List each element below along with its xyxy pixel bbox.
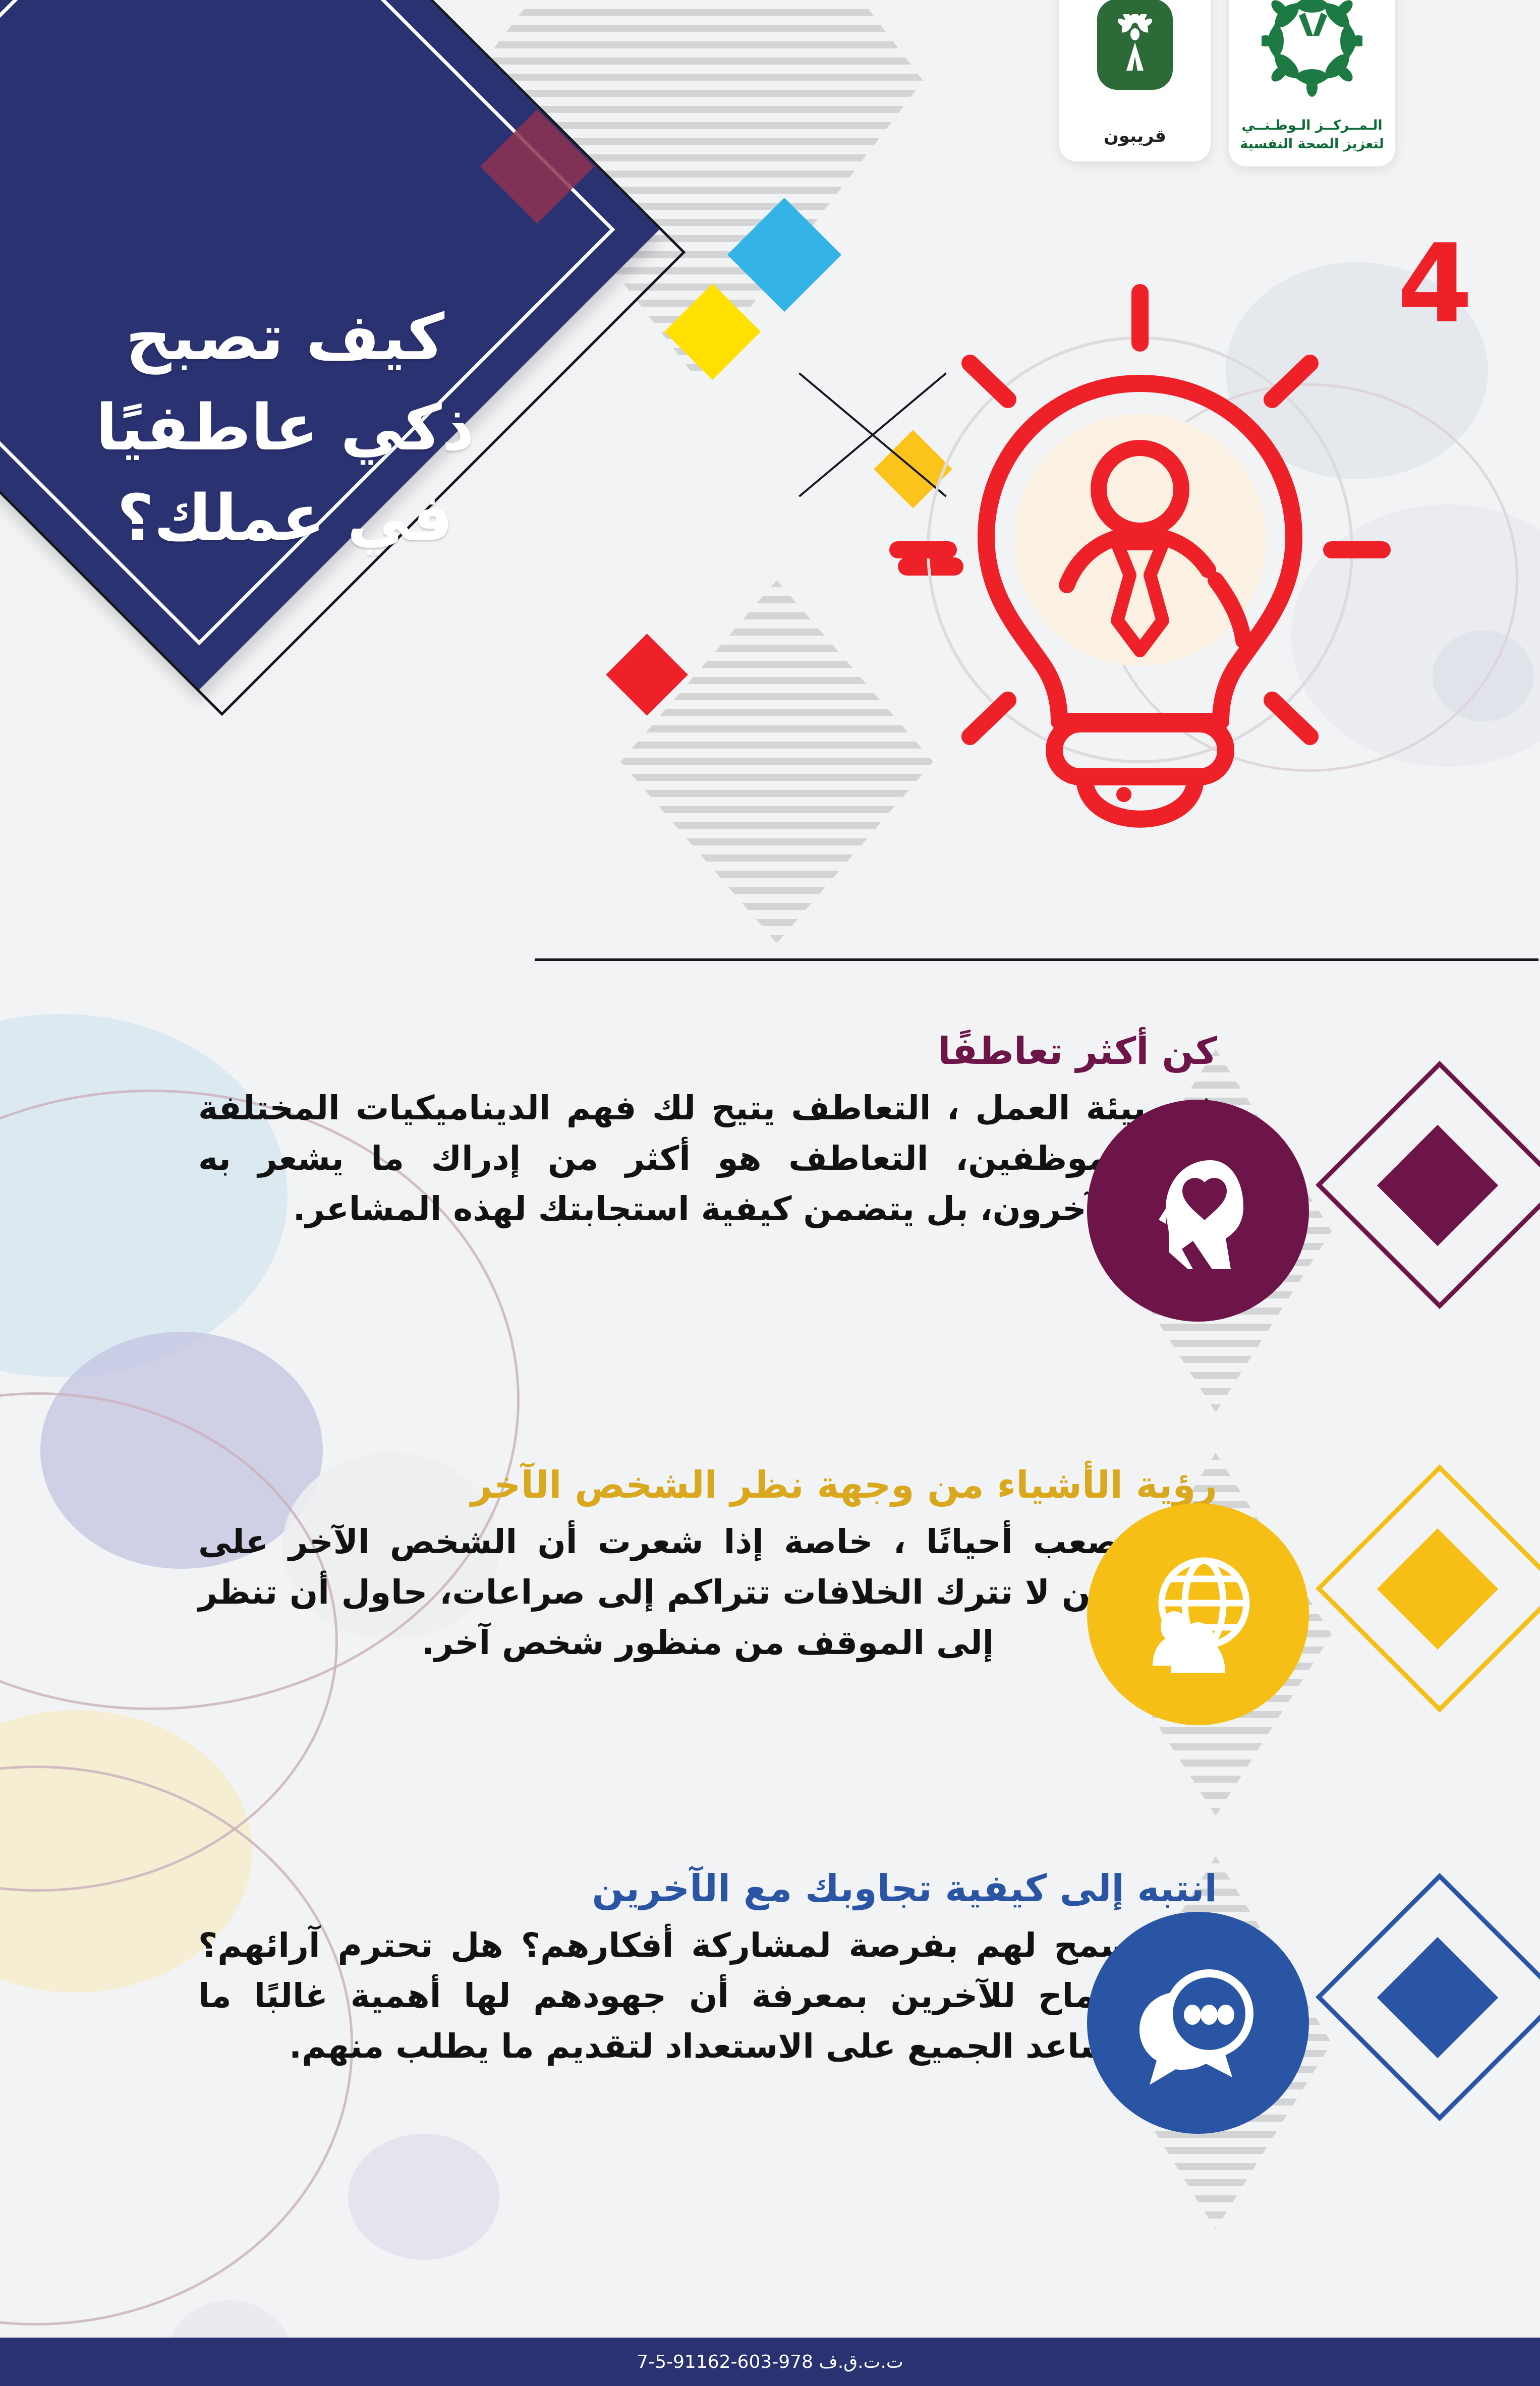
step-number-badge: 4	[1397, 230, 1473, 338]
globe-with-people-icon	[1087, 1503, 1309, 1725]
title-line-2: ذكي عاطفيًا	[0, 383, 600, 473]
national-center-logo-icon	[1262, 0, 1362, 117]
logo-card-national-center: الـمــركــز الـوطـنــي لتعزيز الصحة النف…	[1229, 0, 1395, 166]
page-title: كيف تصبح ذكي عاطفيًا في عملك؟	[0, 293, 600, 563]
qaribon-app-icon	[1097, 0, 1173, 125]
section-text-block: انتبه إلى كيفية تجاوبك مع الآخرين هل تسم…	[198, 1866, 1217, 2072]
logo-row: الـمــركــز الـوطـنــي لتعزيز الصحة النف…	[1059, 0, 1395, 166]
section-heading: رؤية الأشياء من وجهة نظر الشخص الآخر	[198, 1463, 1217, 1508]
section-heading: كن أكثر تعاطفًا	[198, 1029, 1217, 1074]
head-with-heart-icon	[1087, 1100, 1309, 1322]
section-heading: انتبه إلى كيفية تجاوبك مع الآخرين	[198, 1866, 1217, 1911]
logo-caption-line1: الـمــركــز الـوطـنــي	[1240, 117, 1384, 135]
logo-card-qaribon: قريبون	[1059, 0, 1211, 161]
qaribon-caption: قريبون	[1104, 125, 1166, 148]
background-blob	[348, 2134, 499, 2260]
title-line-3: في عملك؟	[0, 473, 600, 563]
logo-caption-line2: لتعزيز الصحة النفسية	[1240, 135, 1384, 153]
header-divider-rule	[535, 958, 1538, 961]
section-paragraph: في بيئة العمل ، التعاطف يتيح لك فهم الدي…	[198, 1083, 1217, 1235]
title-line-1: كيف تصبح	[0, 293, 600, 383]
footer-bar: ت.ت.ق.ف 978-603-91162-5-7	[0, 2338, 1540, 2386]
chat-bubbles-icon	[1087, 1912, 1309, 2134]
lightbulb-illustration	[888, 267, 1392, 893]
national-center-caption: الـمــركــز الـوطـنــي لتعزيز الصحة النف…	[1240, 117, 1384, 153]
section-text-block: رؤية الأشياء من وجهة نظر الشخص الآخر الأ…	[198, 1463, 1217, 1669]
striped-diamond-decor	[620, 580, 933, 943]
section-paragraph: هل تسمح لهم بفرصة لمشاركة أفكارهم؟ هل تح…	[198, 1920, 1217, 2072]
footer-isbn-text: ت.ت.ق.ف 978-603-91162-5-7	[637, 2352, 903, 2372]
poster-canvas: كيف تصبح ذكي عاطفيًا في عملك؟ 4	[0, 0, 1540, 2386]
section-text-block: كن أكثر تعاطفًا في بيئة العمل ، التعاطف …	[198, 1029, 1217, 1235]
section-paragraph: الأمر صعب أحيانًا ، خاصة إذا شعرت أن الش…	[198, 1517, 1217, 1669]
